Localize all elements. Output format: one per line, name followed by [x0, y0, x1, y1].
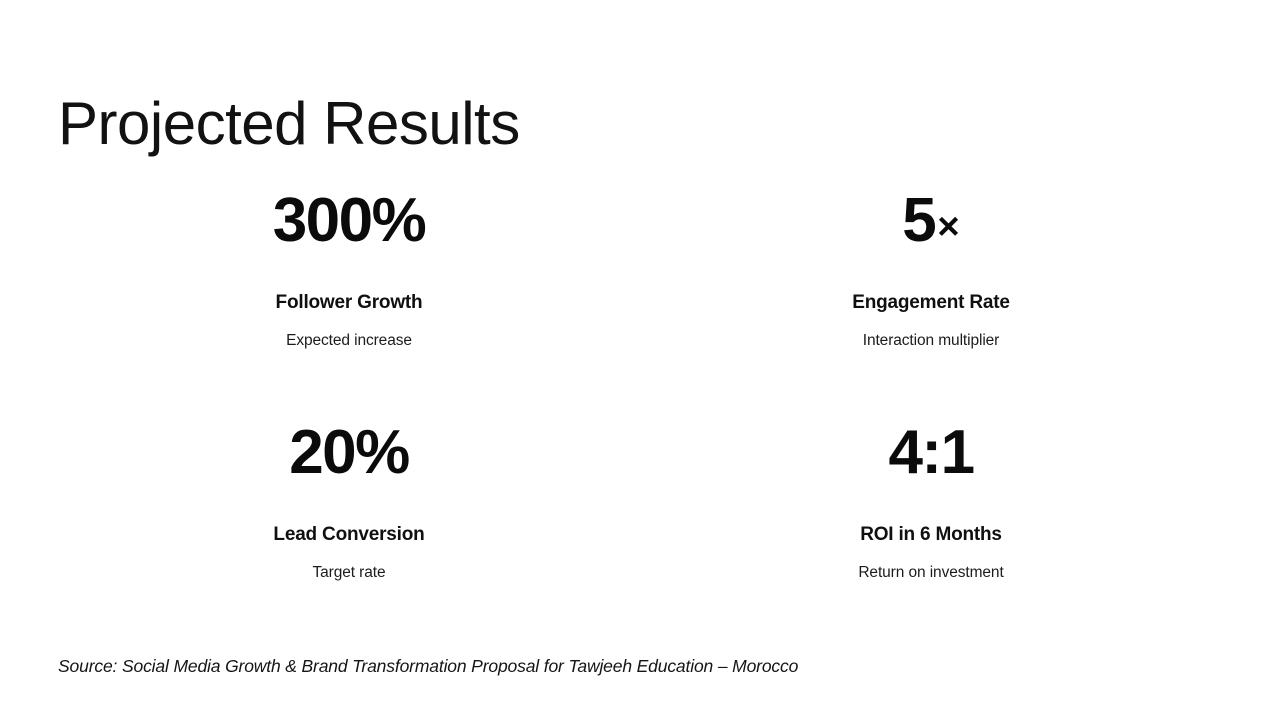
stat-value: 5× — [902, 190, 959, 252]
stat-card-engagement-rate: 5× Engagement Rate Interaction multiplie… — [640, 182, 1222, 414]
stat-value-suffix: % — [372, 186, 426, 255]
stat-value-suffix: × — [935, 205, 959, 248]
stat-value-suffix: % — [355, 418, 409, 487]
stats-grid: 300% Follower Growth Expected increase 5… — [58, 182, 1222, 646]
source-note: Source: Social Media Growth & Brand Tran… — [58, 656, 798, 677]
stat-description: Expected increase — [286, 332, 412, 351]
stat-value-number: 4:1 — [888, 418, 973, 487]
stat-value: 20% — [289, 422, 409, 484]
stat-value-number: 20 — [289, 418, 355, 487]
stat-description: Target rate — [313, 564, 386, 583]
stat-label: ROI in 6 Months — [860, 524, 1002, 547]
page-title: Projected Results — [58, 92, 520, 155]
stat-value-number: 5 — [902, 186, 935, 255]
stat-label: Engagement Rate — [852, 292, 1009, 315]
stat-value-number: 300 — [273, 186, 372, 255]
slide-projected-results: Projected Results 300% Follower Growth E… — [0, 0, 1280, 720]
stat-description: Return on investment — [858, 564, 1003, 583]
stat-card-lead-conversion: 20% Lead Conversion Target rate — [58, 414, 640, 646]
stat-label: Follower Growth — [276, 292, 423, 315]
stat-card-roi: 4:1 ROI in 6 Months Return on investment — [640, 414, 1222, 646]
stat-card-follower-growth: 300% Follower Growth Expected increase — [58, 182, 640, 414]
stat-value: 300% — [273, 190, 426, 252]
stat-description: Interaction multiplier — [863, 332, 1000, 351]
stat-label: Lead Conversion — [273, 524, 424, 547]
stat-value: 4:1 — [888, 422, 973, 484]
